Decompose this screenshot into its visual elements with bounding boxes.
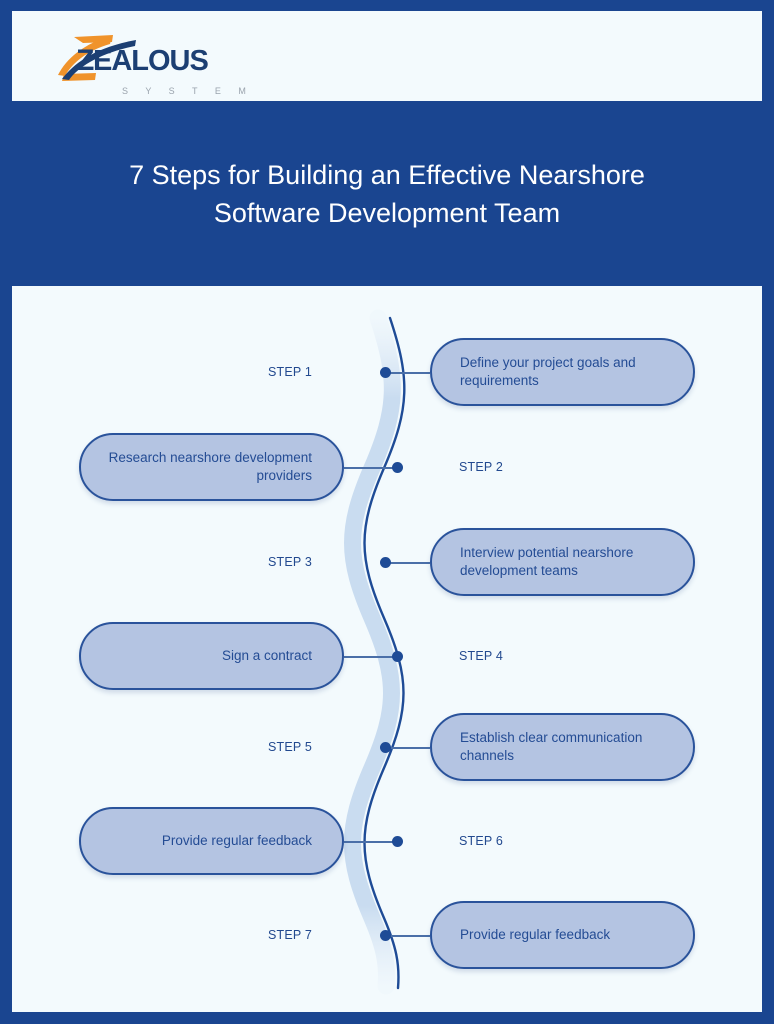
step-number-label: STEP 6 xyxy=(459,834,619,848)
step-connector-line xyxy=(389,372,430,374)
step-pill-label: Research nearshore development providers xyxy=(81,449,342,485)
step-number-label: STEP 2 xyxy=(459,460,619,474)
step-row: Establish clear communication channelsST… xyxy=(12,701,762,795)
step-pill[interactable]: Provide regular feedback xyxy=(430,901,695,969)
step-number-label: STEP 3 xyxy=(162,555,312,569)
title-block: 7 Steps for Building an Effective Nearsh… xyxy=(0,101,774,286)
step-row: Define your project goals and requiremen… xyxy=(12,326,762,420)
step-pill[interactable]: Interview potential nearshore developmen… xyxy=(430,528,695,596)
step-pill[interactable]: Research nearshore development providers xyxy=(79,433,344,501)
logo-band: Z EALOUS S Y S T E M xyxy=(12,11,762,101)
step-pill[interactable]: Sign a contract xyxy=(79,622,344,690)
zealous-logo-mark: Z EALOUS xyxy=(50,29,210,87)
step-node-dot xyxy=(380,930,391,941)
step-connector-line xyxy=(344,656,397,658)
step-row: Sign a contractSTEP 4 xyxy=(12,610,762,704)
step-row: Interview potential nearshore developmen… xyxy=(12,516,762,610)
step-pill-label: Interview potential nearshore developmen… xyxy=(432,544,693,580)
zealous-logo: Z EALOUS S Y S T E M xyxy=(50,29,210,87)
step-connector-line xyxy=(389,935,430,937)
step-pill-label: Define your project goals and requiremen… xyxy=(432,354,693,390)
steps-panel: Define your project goals and requiremen… xyxy=(12,286,762,1012)
step-pill-label: Establish clear communication channels xyxy=(432,729,693,765)
step-connector-line xyxy=(389,562,430,564)
step-pill[interactable]: Establish clear communication channels xyxy=(430,713,695,781)
step-number-label: STEP 4 xyxy=(459,649,619,663)
step-number-label: STEP 1 xyxy=(162,365,312,379)
step-node-dot xyxy=(392,836,403,847)
step-pill-label: Provide regular feedback xyxy=(148,832,342,850)
step-pill-label: Provide regular feedback xyxy=(432,926,624,944)
step-connector-line xyxy=(344,467,397,469)
step-number-label: STEP 5 xyxy=(162,740,312,754)
step-number-label: STEP 7 xyxy=(162,928,312,942)
step-node-dot xyxy=(392,462,403,473)
step-node-dot xyxy=(380,367,391,378)
step-node-dot xyxy=(392,651,403,662)
step-row: Provide regular feedbackSTEP 6 xyxy=(12,795,762,889)
step-row: Research nearshore development providers… xyxy=(12,421,762,515)
svg-text:EALOUS: EALOUS xyxy=(93,45,209,77)
svg-text:Z: Z xyxy=(76,44,94,77)
step-pill-label: Sign a contract xyxy=(208,647,342,665)
step-connector-line xyxy=(389,747,430,749)
step-connector-line xyxy=(344,841,397,843)
step-pill[interactable]: Provide regular feedback xyxy=(79,807,344,875)
step-row: Provide regular feedbackSTEP 7 xyxy=(12,889,762,983)
page-title: 7 Steps for Building an Effective Nearsh… xyxy=(127,156,647,232)
logo-tagline: S Y S T E M xyxy=(122,86,253,96)
infographic-poster: Z EALOUS S Y S T E M 7 Steps for Buildin… xyxy=(0,0,774,1024)
step-node-dot xyxy=(380,557,391,568)
step-pill[interactable]: Define your project goals and requiremen… xyxy=(430,338,695,406)
step-node-dot xyxy=(380,742,391,753)
